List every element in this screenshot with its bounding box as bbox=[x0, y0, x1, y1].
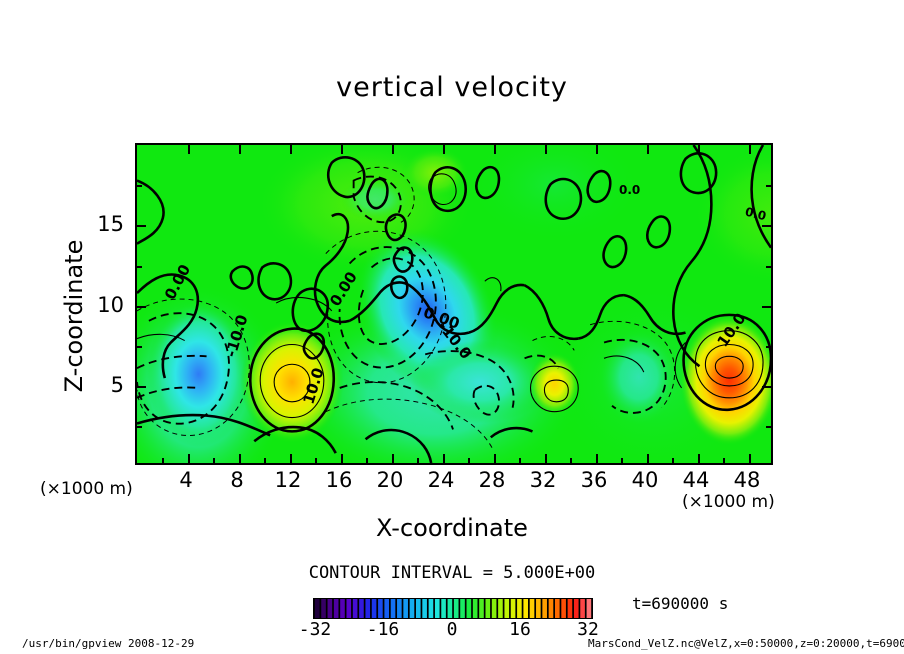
x-tick-major bbox=[188, 454, 190, 463]
y-tick-minor-right bbox=[766, 185, 771, 187]
x-tick-major bbox=[443, 454, 445, 463]
x-axis-title: X-coordinate bbox=[0, 514, 904, 542]
footer-command: /usr/bin/gpview 2008-12-29 bbox=[22, 637, 194, 650]
y-axis-title: Z-coordinate bbox=[60, 216, 88, 416]
y-tick-minor bbox=[137, 266, 142, 268]
y-tick-major bbox=[137, 306, 146, 308]
contour-label: 0.0 bbox=[619, 183, 640, 197]
x-tick-minor bbox=[468, 458, 470, 463]
x-tick-major bbox=[392, 454, 394, 463]
x-tick-minor bbox=[417, 458, 419, 463]
x-tick-label: 48 bbox=[717, 468, 777, 492]
x-tick-major bbox=[239, 454, 241, 463]
y-tick-right bbox=[762, 306, 771, 308]
y-tick-minor bbox=[137, 426, 142, 428]
x-axis-unit: (×1000 m) bbox=[682, 492, 775, 512]
y-tick-major bbox=[137, 386, 146, 388]
colorbar-tick-labels: -32 -16 0 16 32 bbox=[283, 619, 623, 641]
colorbar-tick-label: 0 bbox=[426, 619, 478, 640]
x-tick-major bbox=[698, 454, 700, 463]
x-tick-minor bbox=[264, 458, 266, 463]
y-tick-label: 5 bbox=[86, 373, 124, 397]
y-tick-label: 15 bbox=[86, 212, 124, 236]
x-tick-minor bbox=[315, 458, 317, 463]
footer-dataset: MarsCond_VelZ.nc@VelZ,x=0:50000,z=0:2000… bbox=[588, 637, 904, 650]
y-axis-unit: (×1000 m) bbox=[40, 479, 133, 499]
y-tick-right bbox=[762, 386, 771, 388]
x-tick-top bbox=[188, 145, 190, 154]
x-tick-top bbox=[698, 145, 700, 154]
y-tick-minor bbox=[137, 346, 142, 348]
x-tick-top bbox=[545, 145, 547, 154]
y-tick-minor bbox=[137, 185, 142, 187]
x-tick-major bbox=[290, 454, 292, 463]
x-tick-top bbox=[494, 145, 496, 154]
y-tick-minor-right bbox=[766, 346, 771, 348]
timestamp-label: t=690000 s bbox=[632, 594, 728, 613]
x-tick-top bbox=[596, 145, 598, 154]
x-tick-minor bbox=[162, 458, 164, 463]
y-tick-minor-right bbox=[766, 266, 771, 268]
x-tick-top bbox=[290, 145, 292, 154]
x-tick-minor bbox=[570, 458, 572, 463]
x-tick-top bbox=[749, 145, 751, 154]
x-tick-major bbox=[749, 454, 751, 463]
x-tick-major bbox=[545, 454, 547, 463]
x-tick-major bbox=[494, 454, 496, 463]
x-tick-minor bbox=[519, 458, 521, 463]
vertical-velocity-field bbox=[137, 145, 771, 463]
x-tick-major bbox=[596, 454, 598, 463]
y-tick-minor-right bbox=[766, 426, 771, 428]
x-tick-top bbox=[341, 145, 343, 154]
x-tick-minor bbox=[672, 458, 674, 463]
x-tick-major bbox=[341, 454, 343, 463]
x-tick-top bbox=[443, 145, 445, 154]
contour-plot-area: 0.00 0.00 -10.0 10.0 0.00 -10.0 0.0 0.0 … bbox=[135, 143, 773, 465]
y-tick-major bbox=[137, 225, 146, 227]
colorbar-tick-label: 16 bbox=[494, 619, 546, 640]
contour-interval-text: CONTOUR INTERVAL = 5.000E+00 bbox=[0, 563, 904, 583]
x-tick-major bbox=[647, 454, 649, 463]
colorbar bbox=[313, 598, 593, 619]
x-tick-minor bbox=[213, 458, 215, 463]
x-tick-minor bbox=[621, 458, 623, 463]
colorbar-tick-label: -16 bbox=[357, 619, 409, 640]
page-title: vertical velocity bbox=[0, 72, 904, 103]
x-tick-top bbox=[647, 145, 649, 154]
y-tick-right bbox=[762, 225, 771, 227]
x-tick-minor bbox=[366, 458, 368, 463]
x-tick-minor bbox=[723, 458, 725, 463]
x-tick-top bbox=[239, 145, 241, 154]
colorbar-tick-label: -32 bbox=[289, 619, 341, 640]
x-tick-top bbox=[392, 145, 394, 154]
y-tick-label: 10 bbox=[86, 293, 124, 317]
